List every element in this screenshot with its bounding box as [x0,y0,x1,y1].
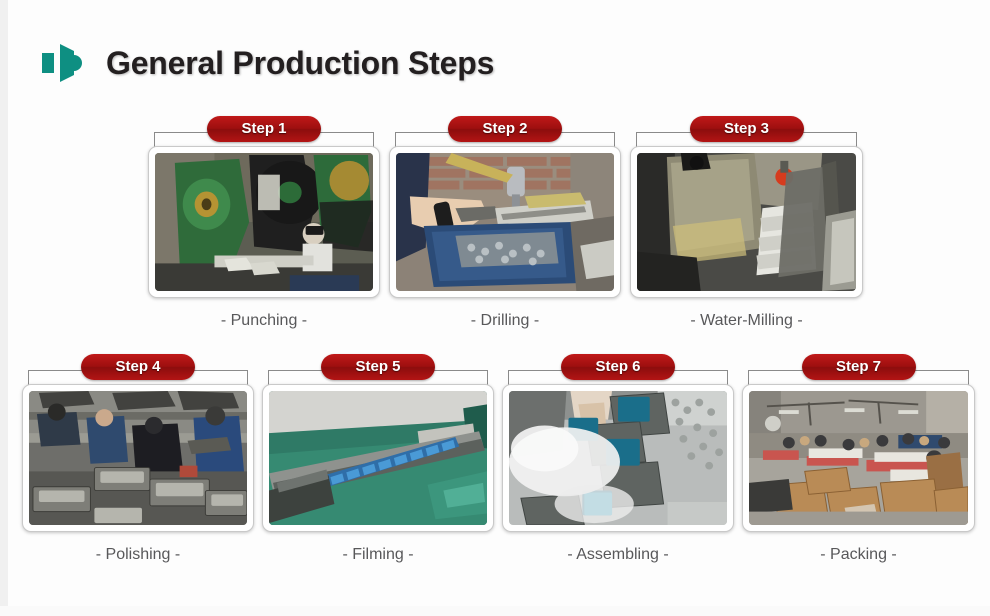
step-caption: - Assembling - [502,546,734,564]
step-badge: Step 4 [81,354,195,380]
step-caption: - Water-Milling - [630,312,863,330]
step-caption: - Drilling - [389,312,621,330]
step-caption: - Punching - [148,312,380,330]
water-milling-photo[interactable] [630,146,863,298]
filming-line-photo[interactable] [262,384,494,532]
step-caption: - Packing - [742,546,975,564]
packing-hall-photo[interactable] [742,384,975,532]
step-caption: - Filming - [262,546,494,564]
drilling-worker-photo[interactable] [389,146,621,298]
left-edge-strip [0,0,8,616]
step-badge: Step 2 [448,116,562,142]
step-badge: Step 3 [690,116,804,142]
step-caption: - Polishing - [22,546,254,564]
page-title: General Production Steps [106,45,494,82]
speaker-icon [40,42,86,84]
assembling-parts-photo[interactable] [502,384,734,532]
step-badge: Step 5 [321,354,435,380]
step-badge: Step 1 [207,116,321,142]
polishing-workshop-photo[interactable] [22,384,254,532]
page-header: General Production Steps [40,42,494,84]
step-badge: Step 6 [561,354,675,380]
punching-machine-photo[interactable] [148,146,380,298]
slide-canvas: General Production Steps Step 1 [0,0,990,616]
step-badge: Step 7 [802,354,916,380]
bottom-edge-strip [0,606,990,616]
